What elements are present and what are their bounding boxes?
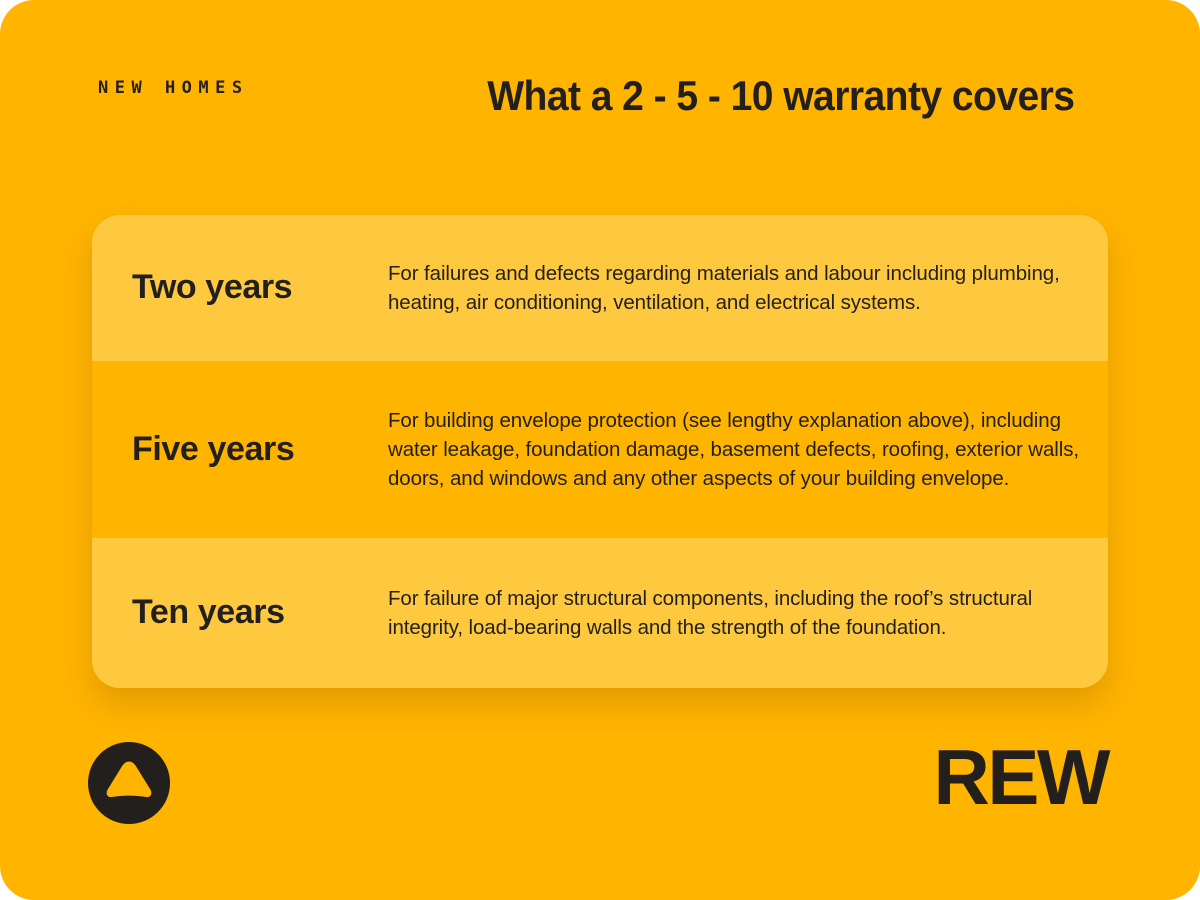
rew-circle-triangle-logo-icon [88, 742, 170, 824]
header: NEW HOMES What a 2 - 5 - 10 warranty cov… [0, 0, 1200, 180]
footer: REW [0, 710, 1200, 900]
infographic-canvas: NEW HOMES What a 2 - 5 - 10 warranty cov… [0, 0, 1200, 900]
page-title: What a 2 - 5 - 10 warranty covers [487, 72, 1074, 120]
row-description-five-years: For building envelope protection (see le… [388, 406, 1090, 493]
row-description-ten-years: For failure of major structural componen… [388, 584, 1090, 642]
table-row: Ten years For failure of major structura… [92, 538, 1108, 688]
rew-wordmark: REW [934, 738, 1108, 816]
table-row: Two years For failures and defects regar… [92, 215, 1108, 361]
row-term-five-years: Five years [132, 431, 388, 468]
row-term-ten-years: Ten years [132, 594, 388, 631]
row-term-two-years: Two years [132, 269, 388, 306]
warranty-coverage-card: Two years For failures and defects regar… [92, 215, 1108, 688]
table-row: Five years For building envelope protect… [92, 361, 1108, 538]
eyebrow-label: NEW HOMES [98, 80, 249, 97]
row-description-two-years: For failures and defects regarding mater… [388, 259, 1090, 317]
